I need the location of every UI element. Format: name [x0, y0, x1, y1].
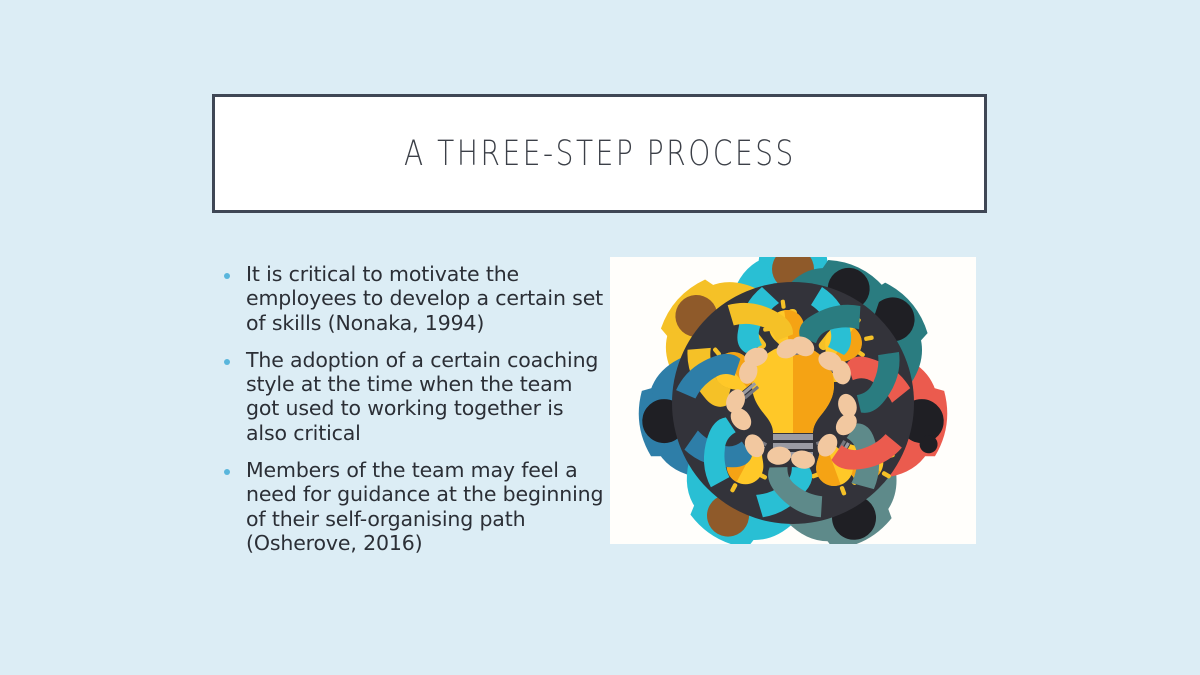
- bullet-dot-icon: [224, 359, 230, 365]
- title-box: A THREE-STEP PROCESS: [212, 94, 987, 213]
- list-item: It is critical to motivate the employees…: [224, 262, 606, 335]
- team-brainstorming-lightbulb-illustration: [610, 257, 976, 544]
- illustration-svg: [610, 257, 976, 544]
- page-title: A THREE-STEP PROCESS: [404, 134, 796, 174]
- bullet-text: It is critical to motivate the employees…: [246, 262, 606, 335]
- bullet-text: The adoption of a certain coaching style…: [246, 348, 606, 445]
- bullet-dot-icon: [224, 469, 230, 475]
- bullet-dot-icon: [224, 273, 230, 279]
- bullet-text: Members of the team may feel a need for …: [246, 458, 606, 555]
- bullet-list: It is critical to motivate the employees…: [224, 262, 606, 568]
- list-item: Members of the team may feel a need for …: [224, 458, 606, 555]
- presentation-slide: A THREE-STEP PROCESS It is critical to m…: [0, 0, 1200, 675]
- list-item: The adoption of a certain coaching style…: [224, 348, 606, 445]
